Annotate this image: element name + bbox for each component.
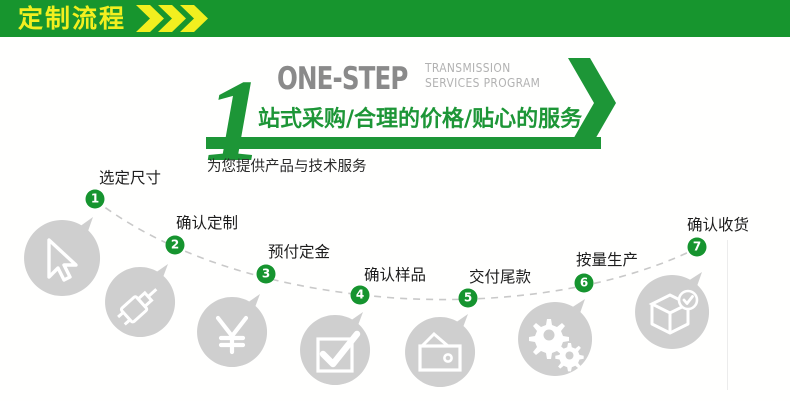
- step-label-6: 按量生产: [576, 248, 638, 270]
- step-bubble-5: [400, 312, 480, 397]
- step-bubble-2: [100, 262, 180, 347]
- step-badge-4[interactable]: 4: [351, 286, 370, 305]
- step-label-7: 确认收货: [687, 213, 749, 235]
- step-badge-1[interactable]: 1: [86, 190, 105, 209]
- vertical-divider: [727, 240, 728, 390]
- step-label-2: 确认定制: [176, 211, 238, 233]
- step-bubble-4: [295, 310, 375, 395]
- step-badge-5[interactable]: 5: [459, 289, 478, 308]
- step-bubble-3: [192, 292, 272, 377]
- section-flow: 选定尺寸 确认定制 预付定金 确认样品 交付尾款 按量生产 确认收货 1 2 3…: [0, 0, 790, 401]
- step-bubble-7: [630, 270, 714, 359]
- step-label-5: 交付尾款: [469, 265, 531, 287]
- step-badge-2[interactable]: 2: [166, 236, 185, 255]
- step-label-4: 确认样品: [364, 263, 426, 285]
- step-badge-7[interactable]: 7: [688, 238, 707, 257]
- step-badge-3[interactable]: 3: [257, 265, 276, 284]
- step-badge-6[interactable]: 6: [575, 274, 594, 293]
- page-root: 定制流程 1 ONE-STEP TRANSMISSION SERVICES PR…: [0, 0, 790, 401]
- step-bubble-6: [513, 297, 597, 386]
- step-bubble-1: [19, 215, 105, 306]
- step-label-1: 选定尺寸: [99, 166, 161, 188]
- step-label-3: 预付定金: [268, 240, 330, 262]
